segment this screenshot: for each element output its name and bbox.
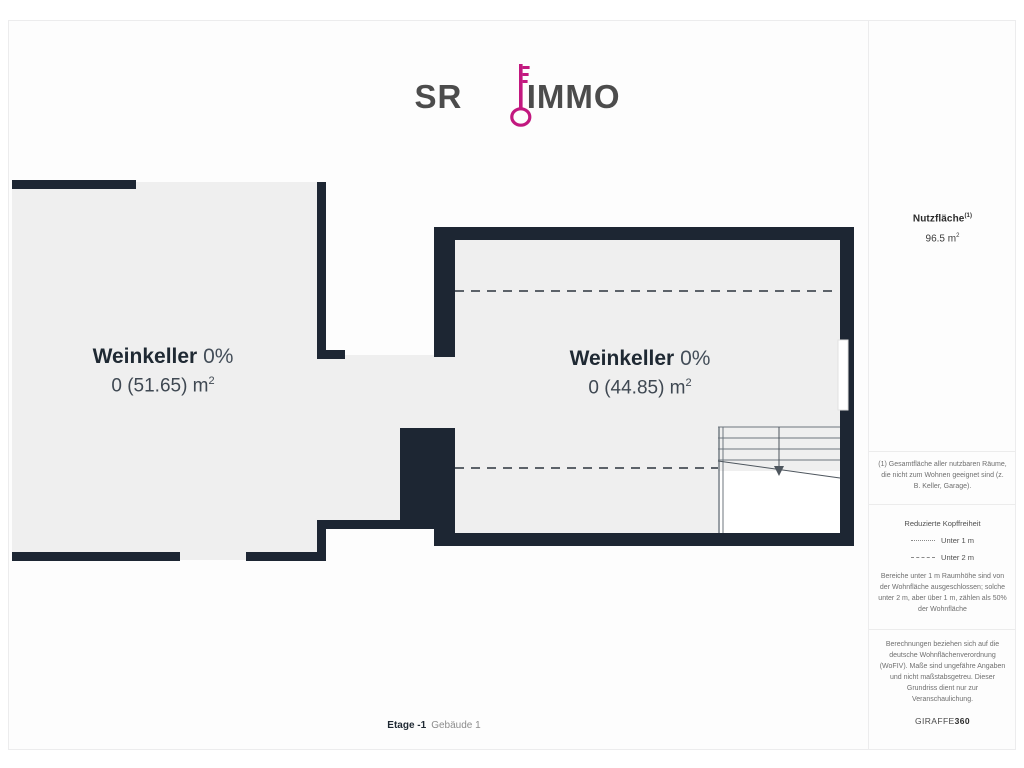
area-value-text: 96.5 m <box>926 234 957 245</box>
sidebar-divider-3 <box>869 629 1016 630</box>
provider-name-text: GIRAFFE <box>915 716 955 726</box>
wall-right-top <box>434 227 854 240</box>
headroom-legend-label-1: Unter 1 m <box>941 536 974 545</box>
floorplan-canvas[interactable]: Weinkeller 0% 0 (51.65) m2 Weinkeller 0%… <box>0 0 868 768</box>
floorplan-footer: Etage -1Gebäude 1 <box>0 720 868 731</box>
wall-right-left-upper <box>434 227 455 357</box>
staircase-icon <box>718 427 840 533</box>
area-title-sup: (1) <box>964 213 972 219</box>
wall-left-corridor-bottom <box>317 520 403 529</box>
footnote-nutzflaeche: (1) Gesamtfläche aller nutzbaren Räume, … <box>869 459 1016 492</box>
headroom-legend-label-2: Unter 2 m <box>941 553 974 562</box>
headroom-legend: Reduzierte Kopffreiheit Unter 1 m Unter … <box>869 519 1016 562</box>
area-value: 96.5 m2 <box>869 233 1016 244</box>
wall-left-right-upper <box>317 182 326 358</box>
wall-right-left-lower <box>434 428 455 546</box>
headroom-title: Reduzierte Kopffreiheit <box>869 519 1016 528</box>
sidebar-divider-1 <box>869 451 1016 452</box>
provider-logo: GIRAFFE360 <box>869 711 1016 729</box>
wall-left-stub-upper <box>317 350 345 359</box>
wall-right-bottom <box>434 533 854 546</box>
area-summary: Nutzfläche(1) 96.5 m2 <box>869 213 1016 245</box>
area-title-text: Nutzfläche <box>913 213 965 224</box>
wall-left-bottom-b <box>246 552 318 561</box>
sidebar-divider-2 <box>869 504 1016 505</box>
room-fill-left <box>12 182 445 560</box>
provider-suffix-text: 360 <box>955 716 970 726</box>
headroom-legend-row-2: Unter 2 m <box>869 553 1016 562</box>
dotted-line-swatch <box>911 540 935 541</box>
wall-left-bottom-a <box>12 552 180 561</box>
floorplan-page: SR IMMO <box>0 0 1024 768</box>
footer-floor-label: Etage -1 <box>387 720 426 731</box>
headroom-description: Bereiche unter 1 m Raumhöhe sind von der… <box>869 571 1016 615</box>
floorplan-svg <box>0 0 868 768</box>
footer-building-label: Gebäude 1 <box>431 720 481 731</box>
dashed-line-swatch <box>911 557 935 558</box>
provider-name: GIRAFFE360 <box>915 716 970 726</box>
disclaimer-text: Berechnungen beziehen sich auf die deuts… <box>869 639 1016 705</box>
wall-left-top <box>12 180 136 189</box>
headroom-legend-row-1: Unter 1 m <box>869 536 1016 545</box>
info-sidebar: Nutzfläche(1) 96.5 m2 (1) Gesamtfläche a… <box>869 21 1016 749</box>
window-icon <box>838 340 848 410</box>
area-value-sup: 2 <box>956 233 959 239</box>
area-title: Nutzfläche(1) <box>869 213 1016 224</box>
